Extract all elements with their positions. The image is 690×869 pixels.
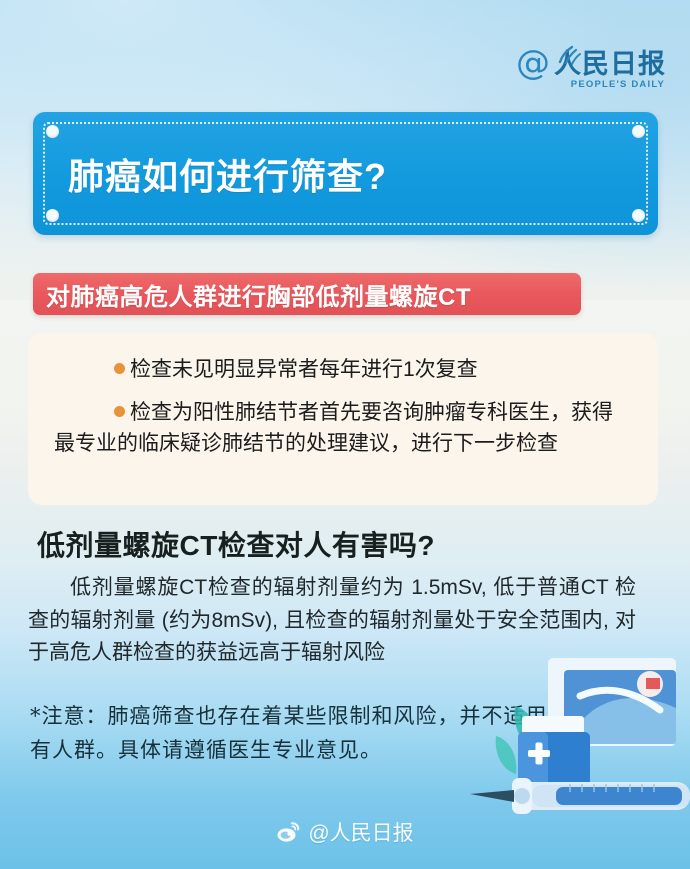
bullet-list: 检查未见明显异常者每年进行1次复查 检查为阳性肺结节者首先要咨询肿瘤专科医生，获… <box>28 355 636 467</box>
syringe-icon <box>470 778 690 814</box>
title-banner: 肺癌如何进行筛查? <box>33 112 658 235</box>
poster-canvas: @ 人民日报 PEOPLE'S DAILY 肺癌如何进行筛查? 对肺癌高危人群进… <box>0 0 690 869</box>
bullet-dot-icon <box>114 363 125 374</box>
section-heading: 低剂量螺旋CT检查对人有害吗? <box>37 524 435 564</box>
leaf-icon <box>496 736 517 774</box>
corner-dot-top-left <box>46 125 59 138</box>
at-symbol-icon: @ <box>516 48 550 78</box>
bullet-dot-icon <box>114 406 125 417</box>
page-title: 肺癌如何进行筛查? <box>68 148 387 200</box>
logo-english-name: PEOPLE'S DAILY <box>571 79 665 90</box>
bullet-line: 检查为阳性肺结节者首先要咨询肿瘤专科医生，获得最专业的临床疑诊肺结节的处理建议，… <box>54 398 626 459</box>
medical-illustration <box>460 654 690 839</box>
bullet-list-card: 检查未见明显异常者每年进行1次复查 检查为阳性肺结节者首先要咨询肿瘤专科医生，获… <box>28 333 658 505</box>
list-item: 检查未见明显异常者每年进行1次复查 <box>28 355 636 385</box>
weibo-icon <box>276 820 300 844</box>
red-highlight-banner: 对肺癌高危人群进行胸部低剂量螺旋CT <box>33 273 581 315</box>
kit-handle <box>522 716 584 734</box>
cross-icon <box>536 743 543 765</box>
screen-alert-marker <box>646 678 660 689</box>
signal-wave-icon <box>556 44 582 66</box>
logo-row: @ 人民日报 <box>516 48 666 78</box>
list-item: 检查为阳性肺结节者首先要咨询肿瘤专科医生，获得最专业的临床疑诊肺结节的处理建议，… <box>28 398 636 459</box>
corner-dot-top-right <box>632 125 645 138</box>
bullet-line: 检查未见明显异常者每年进行1次复查 <box>54 355 626 385</box>
footer-handle: @人民日报 <box>308 817 413 847</box>
bullet-text: 检查未见明显异常者每年进行1次复查 <box>130 358 478 381</box>
bullet-text: 检查为阳性肺结节者首先要咨询肿瘤专科医生，获得最专业的临床疑诊肺结节的处理建议，… <box>54 401 613 454</box>
red-banner-text: 对肺癌高危人群进行胸部低剂量螺旋CT <box>46 277 471 312</box>
medical-kit-left <box>518 732 548 786</box>
peoples-daily-logo: @ 人民日报 PEOPLE'S DAILY <box>516 48 666 90</box>
corner-dot-bottom-right <box>632 209 645 222</box>
corner-dot-bottom-left <box>46 209 59 222</box>
footer: @人民日报 <box>0 817 690 847</box>
